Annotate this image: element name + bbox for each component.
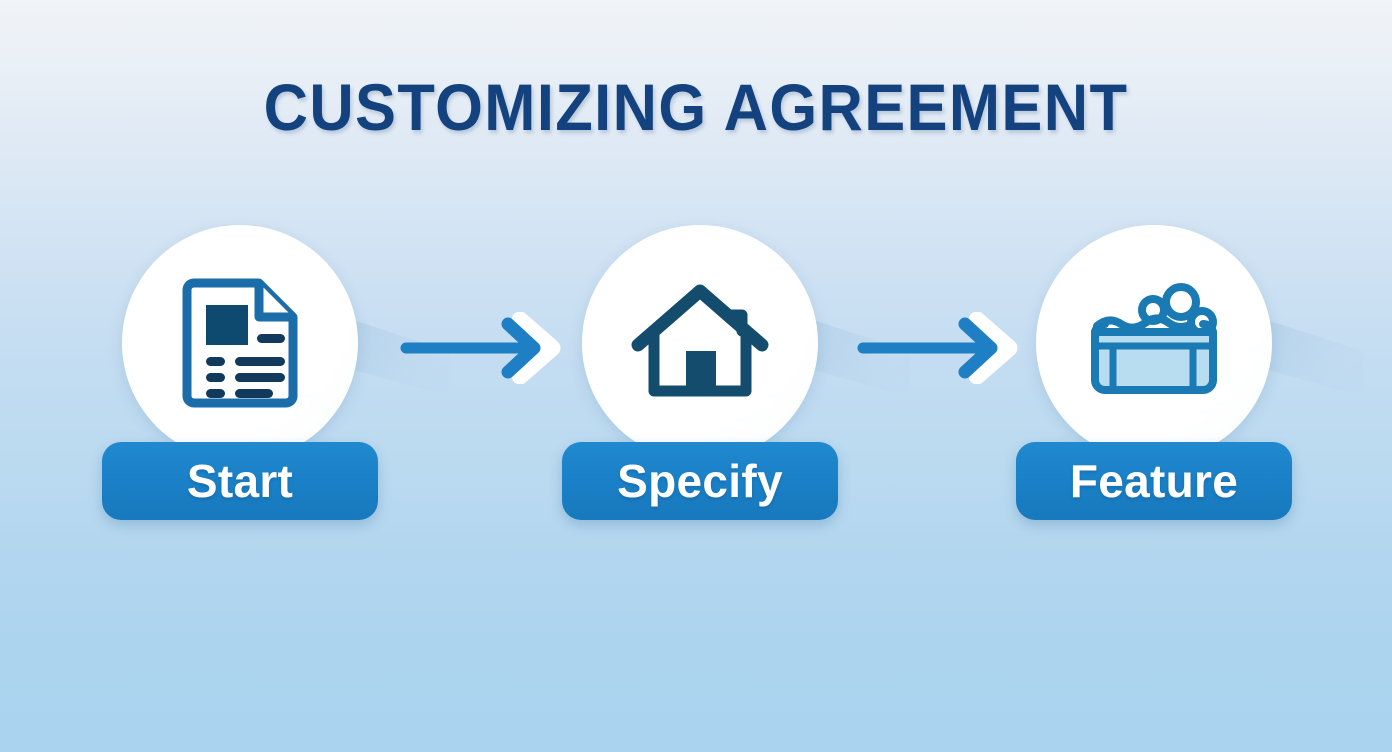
arrow-right-icon bbox=[853, 312, 1023, 384]
step-1-label: Start bbox=[187, 458, 293, 504]
document-icon bbox=[181, 277, 299, 409]
hot-tub-icon bbox=[1081, 282, 1227, 404]
arrow-right-icon bbox=[396, 312, 566, 384]
step-2-label-pill[interactable]: Specify bbox=[562, 442, 838, 520]
step-3-label: Feature bbox=[1070, 458, 1238, 504]
step-2-label: Specify bbox=[617, 458, 783, 504]
connector-arrow-2 bbox=[853, 312, 1023, 384]
step-3-icon-circle[interactable] bbox=[1036, 225, 1272, 461]
step-2[interactable]: Specify bbox=[562, 225, 838, 525]
step-3-label-pill[interactable]: Feature bbox=[1016, 442, 1292, 520]
step-1-icon-circle[interactable] bbox=[122, 225, 358, 461]
infographic-canvas: CUSTOMIZING AGREEMENT bbox=[0, 0, 1392, 752]
step-3[interactable]: Feature bbox=[1016, 225, 1292, 525]
step-2-icon-circle[interactable] bbox=[582, 225, 818, 461]
page-title: CUSTOMIZING AGREEMENT bbox=[49, 74, 1344, 140]
step-1[interactable]: Start bbox=[102, 225, 378, 525]
step-1-label-pill[interactable]: Start bbox=[102, 442, 378, 520]
connector-arrow-1 bbox=[396, 312, 566, 384]
house-icon bbox=[630, 283, 770, 403]
